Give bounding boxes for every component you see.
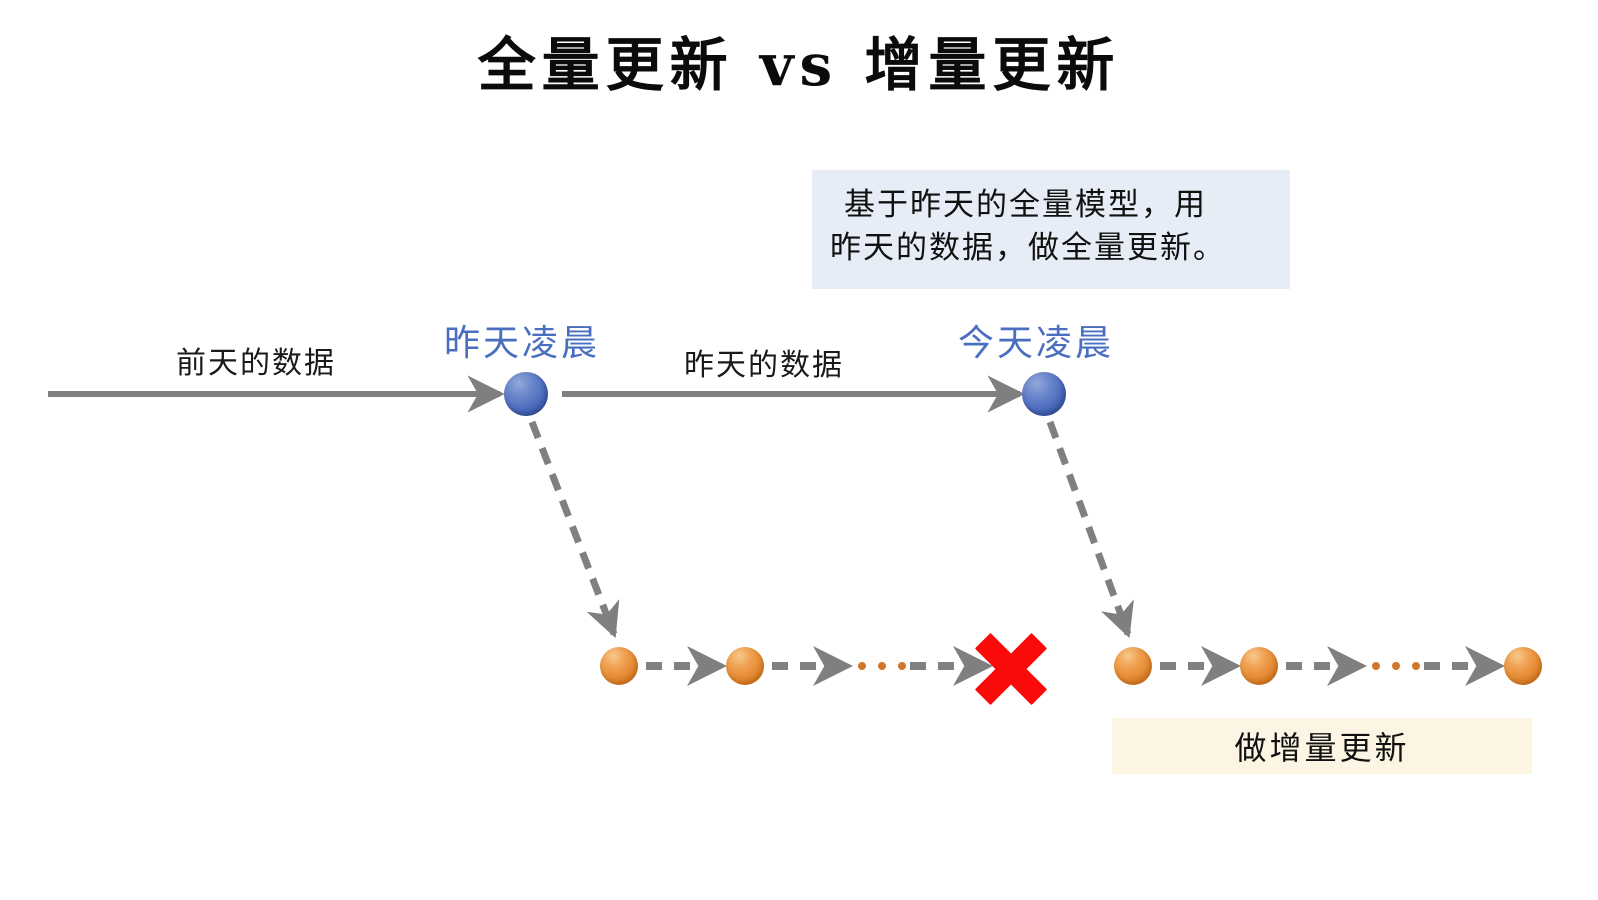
chain-left-ellipsis-icon: [858, 662, 906, 670]
connector-dashed-node1-to-chain-left: [532, 422, 614, 634]
timeline-segment-label-2: 昨天的数据: [684, 340, 844, 384]
chain-left-sphere-1: [600, 647, 638, 685]
red-cross-icon: [972, 630, 1050, 708]
timeline-node-sphere-today-dawn: [1022, 372, 1066, 416]
timeline-node-label-yesterday-dawn: 昨天凌晨: [444, 314, 600, 366]
callout-line-1: 基于昨天的全量模型，用: [830, 184, 1272, 227]
connector-dashed-node2-to-chain-right: [1050, 422, 1128, 634]
chain-left-sphere-2: [726, 647, 764, 685]
callout-box-full-update: 基于昨天的全量模型，用 昨天的数据，做全量更新。: [812, 170, 1290, 289]
chain-right-sphere-3: [1504, 647, 1542, 685]
bottom-label-incremental-update: 做增量更新: [1112, 718, 1532, 774]
timeline-segment-label-1: 前天的数据: [176, 338, 336, 382]
callout-line-2: 昨天的数据，做全量更新。: [830, 227, 1272, 270]
page-title: 全量更新 vs 增量更新: [0, 18, 1598, 102]
timeline-node-label-today-dawn: 今天凌晨: [958, 314, 1114, 366]
timeline-node-sphere-yesterday-dawn: [504, 372, 548, 416]
chain-right-sphere-2: [1240, 647, 1278, 685]
chain-right-ellipsis-icon: [1372, 662, 1420, 670]
chain-right-sphere-1: [1114, 647, 1152, 685]
